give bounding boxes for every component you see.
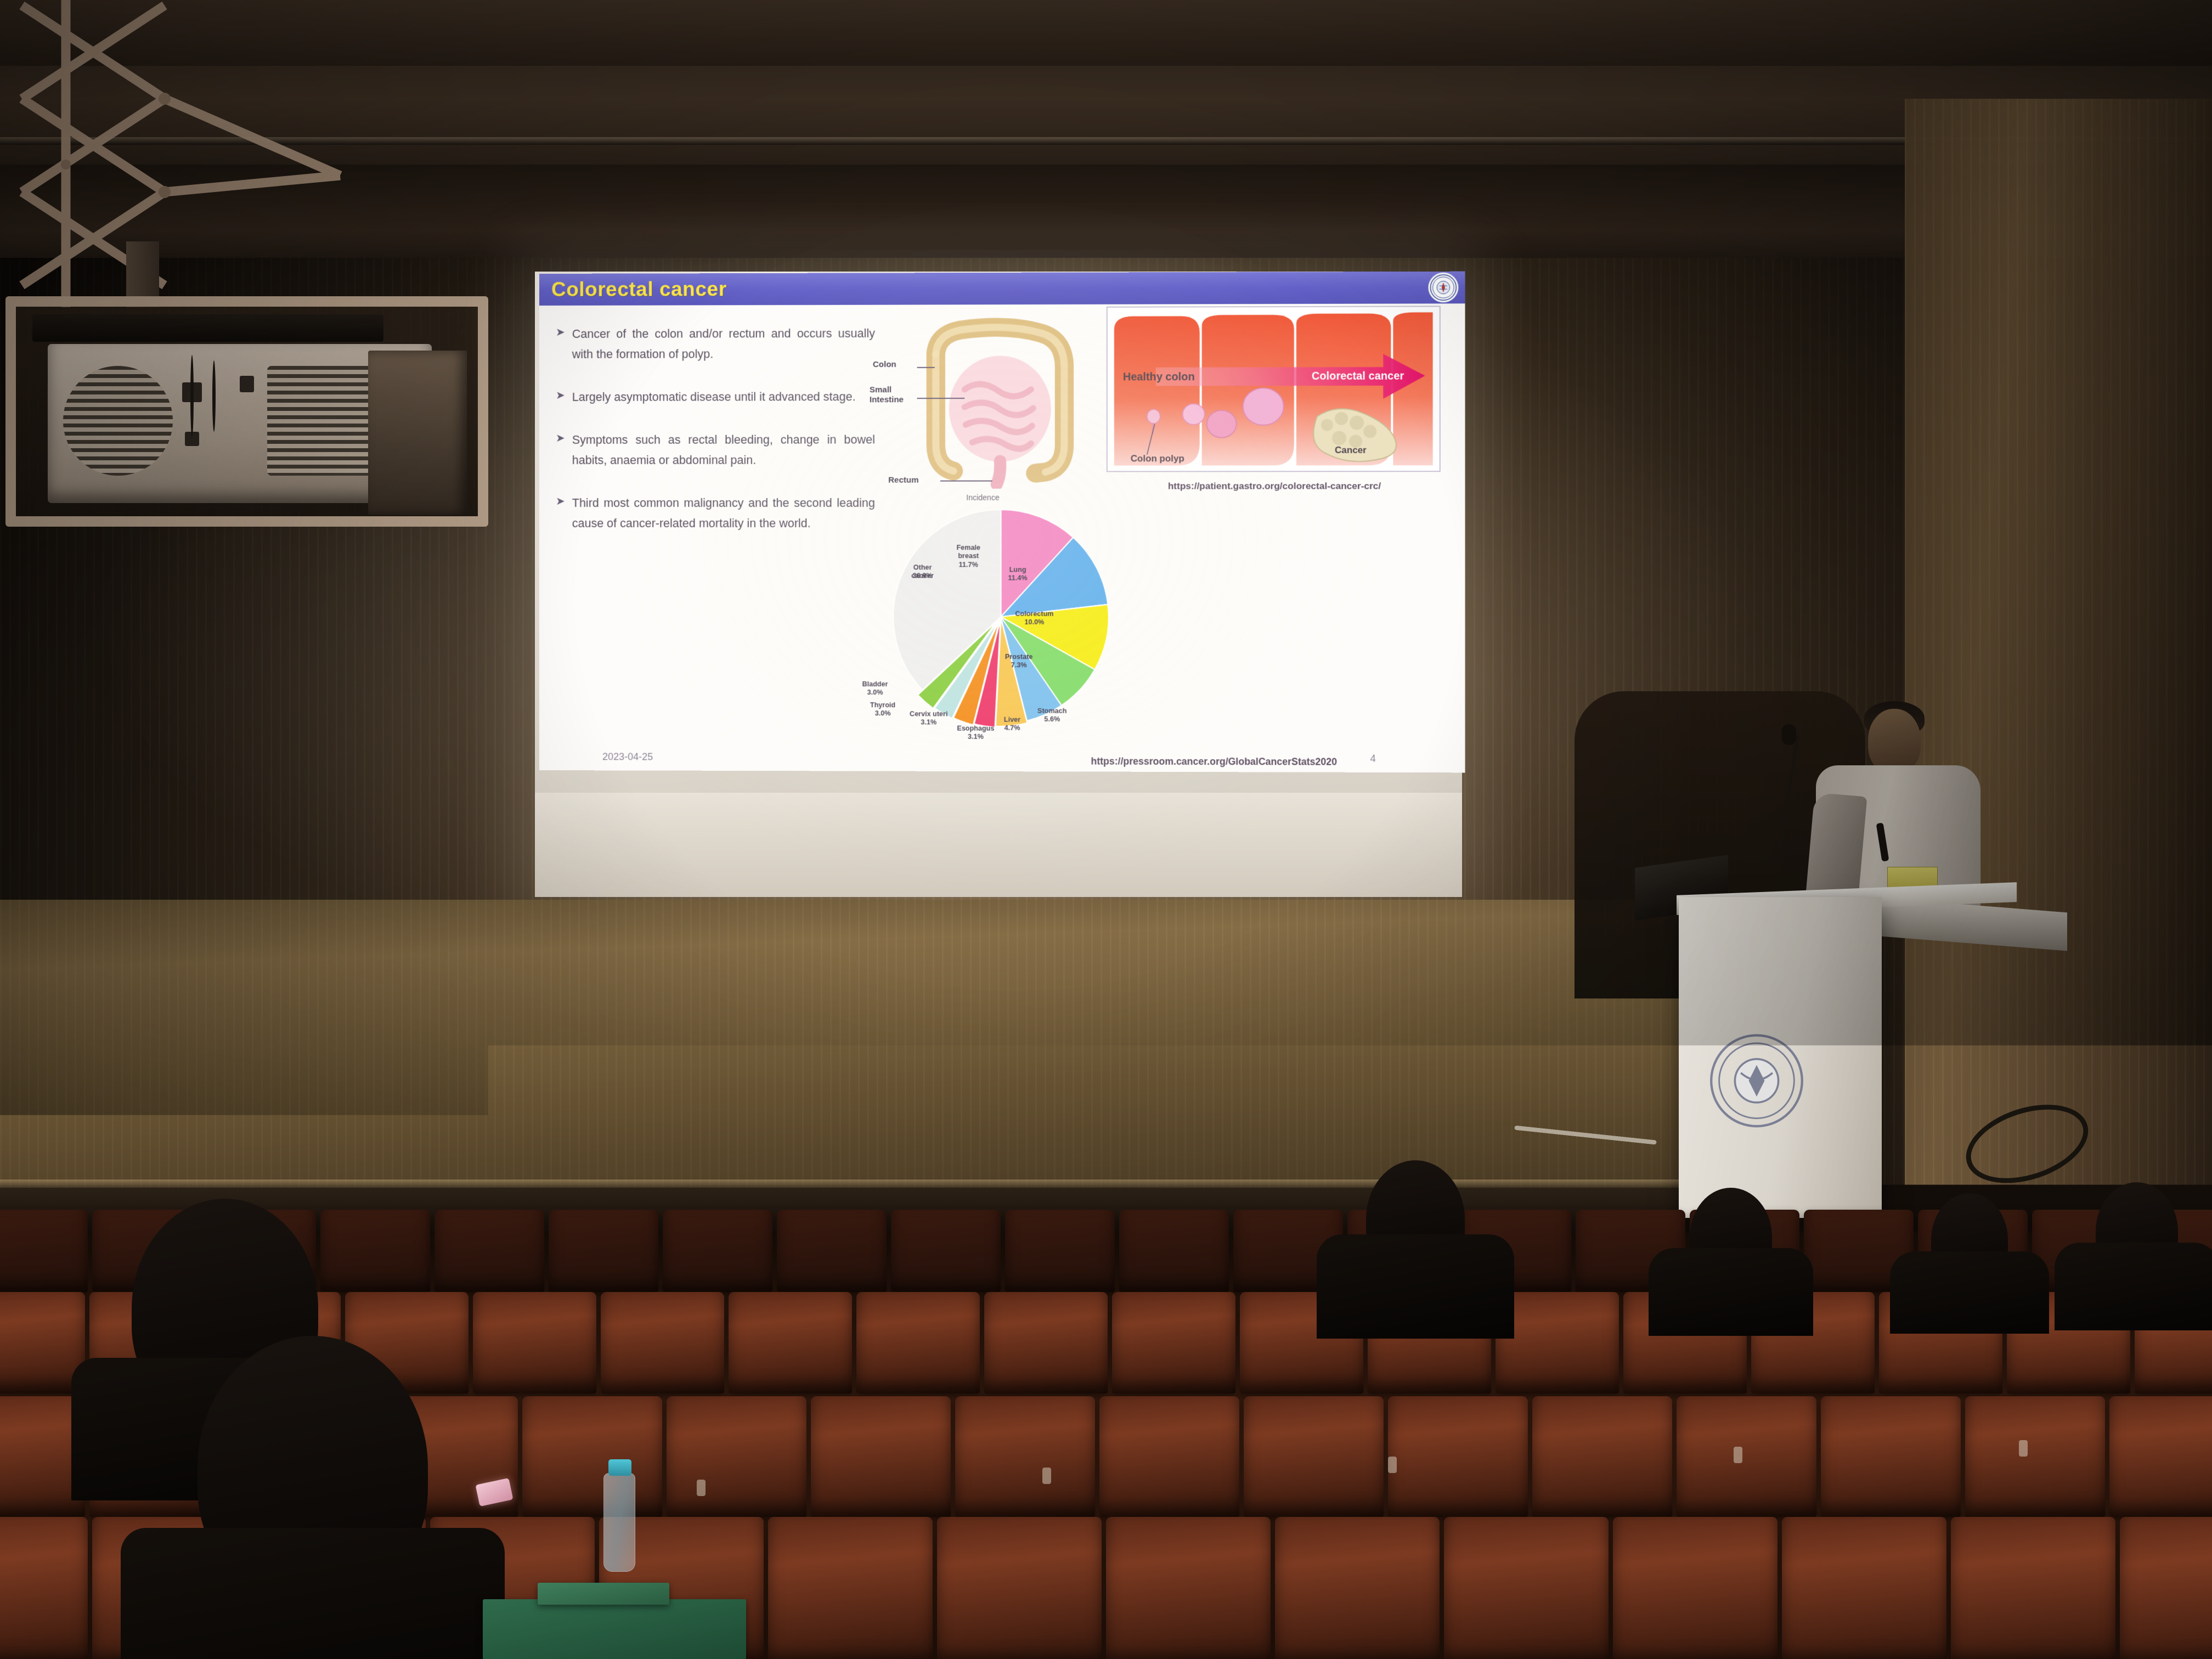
svg-text:Cancer: Cancer	[1335, 445, 1367, 455]
seat[interactable]	[1099, 1396, 1239, 1517]
green-booklet-secondary[interactable]	[538, 1583, 669, 1605]
projector-port-c	[240, 376, 254, 392]
audience-shoulders	[1317, 1234, 1514, 1339]
pie-label-text: Prostate	[1005, 653, 1033, 661]
bullet-arrow-icon: ➤	[556, 493, 565, 534]
pie-label-text: Stomach	[1037, 707, 1066, 715]
microphone-head-icon	[1782, 724, 1796, 745]
pie-label-text: Thyroid	[870, 701, 895, 709]
audience-member-right-b	[1931, 1193, 2008, 1286]
source-link-globocan[interactable]: https://pressroom.cancer.org/GlobalCance…	[1091, 755, 1337, 768]
seat[interactable]	[891, 1210, 1001, 1292]
seat[interactable]	[1444, 1517, 1609, 1659]
seat[interactable]	[1275, 1517, 1440, 1659]
seat[interactable]	[955, 1396, 1095, 1517]
pie-svg-wrapper	[889, 505, 1113, 729]
seat[interactable]	[1965, 1396, 2105, 1517]
pie-label-text: Bladder	[862, 680, 888, 688]
coiled-floor-cable	[1956, 1091, 2098, 1198]
presentation-slide: Colorectal cancer ➤ Cancer of the colon …	[539, 272, 1465, 773]
seat[interactable]	[320, 1210, 430, 1292]
audience-member-right-c	[2096, 1182, 2178, 1281]
projection-screen-frame: Colorectal cancer ➤ Cancer of the colon …	[535, 272, 1462, 897]
pie-label-female-breast: Female breast 11.7%	[945, 544, 992, 569]
projector-security-cage	[5, 296, 488, 527]
seat[interactable]	[1677, 1396, 1816, 1517]
armrest	[697, 1480, 706, 1496]
svg-text:Colon polyp: Colon polyp	[1131, 453, 1184, 464]
anatomy-label-small-intestine: Small Intestine	[870, 385, 914, 405]
seat[interactable]	[1821, 1396, 1961, 1517]
seat[interactable]	[667, 1396, 806, 1517]
audience-member-right-a	[1690, 1188, 1772, 1286]
university-seal-icon	[1707, 1031, 1806, 1130]
pie-value-text: 7.3%	[1011, 661, 1027, 669]
pie-label-lung: Lung 11.4%	[998, 566, 1037, 583]
pie-label-colorectum: Colorectum 10.0%	[1005, 610, 1064, 627]
pie-value-text: 11.4%	[1008, 574, 1028, 582]
water-bottle[interactable]	[603, 1473, 635, 1572]
projection-screen-surface: Colorectal cancer ➤ Cancer of the colon …	[535, 272, 1462, 897]
pie-value-text: 3.0%	[875, 709, 891, 717]
university-logo-icon	[1428, 273, 1458, 303]
seat[interactable]	[2120, 1517, 2212, 1659]
pie-label-text: Lung	[1009, 566, 1026, 573]
seat[interactable]	[1244, 1396, 1384, 1517]
pie-value-text: 3.1%	[968, 733, 984, 741]
pie-label-text: Esophagus	[957, 725, 994, 732]
seat[interactable]	[522, 1396, 662, 1517]
slide-date: 2023-04-25	[602, 751, 653, 763]
audience-seating	[0, 1232, 2212, 1659]
audience-member-foreground	[198, 1336, 428, 1599]
seat[interactable]	[0, 1517, 88, 1659]
audience-shoulders	[121, 1528, 505, 1659]
pie-value-text: 3.1%	[921, 719, 936, 726]
audience-shoulders	[2055, 1243, 2212, 1330]
podium-and-speaker-area	[1580, 647, 2211, 1240]
bullet-item: ➤ Symptoms such as rectal bleeding, chan…	[556, 430, 875, 471]
svg-text:Colorectal cancer: Colorectal cancer	[1312, 370, 1404, 382]
seat[interactable]	[1532, 1396, 1672, 1517]
bullet-item: ➤ Third most common malignancy and the s…	[556, 493, 875, 534]
slide-page-number: 4	[1370, 753, 1376, 765]
seat[interactable]	[856, 1292, 980, 1393]
armrest	[2019, 1440, 2028, 1457]
seat[interactable]	[729, 1292, 852, 1393]
pie-slices	[889, 505, 1113, 729]
pie-label-thyroid: Thyroid 3.0%	[863, 701, 902, 718]
seat[interactable]	[1613, 1517, 1778, 1659]
seat[interactable]	[435, 1210, 544, 1292]
projector-cable-2	[212, 360, 216, 432]
scissor-lift-mount-icon	[0, 0, 417, 340]
audience-shoulders	[1649, 1248, 1813, 1336]
audience-shoulders	[1890, 1251, 2049, 1334]
seat-row-far	[0, 1210, 2212, 1292]
seat[interactable]	[1005, 1210, 1115, 1292]
seat[interactable]	[2109, 1396, 2212, 1517]
audience-member-center	[1366, 1160, 1465, 1278]
projector-mount-bar	[32, 314, 383, 342]
source-link-gastro[interactable]: https://patient.gastro.org/colorectal-ca…	[1108, 481, 1442, 492]
armrest	[1388, 1457, 1397, 1473]
pie-label-liver: Liver 4.7%	[996, 716, 1029, 733]
colon-polyp-to-cancer-illustration-icon: Healthy colon Colorectal cancer Colon po…	[1108, 307, 1440, 471]
bullet-item: ➤ Cancer of the colon and/or rectum and …	[556, 324, 875, 365]
pie-label-esophagus: Esophagus 3.1%	[952, 725, 999, 742]
bullet-arrow-icon: ➤	[556, 387, 565, 408]
bullet-text: Cancer of the colon and/or rectum and oc…	[572, 324, 875, 365]
seat[interactable]	[1112, 1292, 1235, 1393]
bottle-cap	[608, 1459, 631, 1476]
ceiling-projector-assembly	[0, 0, 527, 549]
cancer-incidence-pie-chart: Incidence Female breast 11.7% Lung 11.4%…	[870, 493, 1224, 753]
pie-label-text: Female breast	[957, 544, 980, 560]
seat[interactable]	[768, 1517, 933, 1659]
bullet-arrow-icon: ➤	[556, 430, 565, 471]
anatomy-label-rectum: Rectum	[888, 476, 918, 485]
bottle-cap	[75, 1140, 91, 1152]
pie-value-text: 4.7%	[1005, 724, 1020, 732]
seat[interactable]	[663, 1210, 772, 1292]
pie-value-text: 5.6%	[1044, 715, 1060, 723]
pie-label-prostate: Prostate 7.3%	[997, 653, 1041, 670]
anatomy-label-colon: Colon	[873, 360, 896, 369]
pie-label-text: Cervix uteri	[910, 710, 947, 718]
pie-label-cervix-uteri: Cervix uteri 3.1%	[904, 710, 953, 727]
seat[interactable]	[777, 1210, 887, 1292]
pie-label-stomach: Stomach 5.6%	[1031, 707, 1073, 724]
pie-label-other-cancer-word: cancer	[902, 572, 943, 580]
armrest	[1734, 1447, 1742, 1463]
pie-value-text: 11.7%	[959, 561, 978, 568]
slide-title: Colorectal cancer	[551, 278, 727, 301]
seat[interactable]	[1388, 1396, 1528, 1517]
projector-vent-left-icon	[63, 366, 173, 476]
slide-bullet-list: ➤ Cancer of the colon and/or rectum and …	[556, 324, 875, 556]
green-booklet[interactable]	[483, 1599, 746, 1659]
speaker-head	[1868, 709, 1921, 774]
armrest	[1042, 1468, 1051, 1484]
seat[interactable]	[1106, 1517, 1271, 1659]
seat[interactable]	[0, 1210, 88, 1292]
seat[interactable]	[811, 1396, 951, 1517]
seat[interactable]	[1782, 1517, 1946, 1659]
bullet-item: ➤ Largely asymptomatic disease until it …	[556, 387, 875, 408]
bullet-text: Third most common malignancy and the sec…	[572, 493, 875, 534]
colon-anatomy-figure: Colon Small Intestine Rectum	[870, 307, 1102, 489]
water-bottle-far[interactable]	[71, 1149, 93, 1221]
polyp-progression-figure: Healthy colon Colorectal cancer Colon po…	[1107, 306, 1441, 472]
pie-value-text: 3.0%	[867, 689, 883, 696]
svg-text:Healthy colon: Healthy colon	[1123, 371, 1195, 383]
projector-side-module	[368, 351, 467, 515]
seat[interactable]	[549, 1210, 658, 1292]
seat[interactable]	[937, 1517, 1102, 1659]
pie-label-bladder: Bladder 3.0%	[855, 680, 895, 697]
bullet-text: Largely asymptomatic disease until it ad…	[572, 387, 856, 408]
projector-cable	[190, 355, 194, 437]
screen-blank-lower-area	[535, 793, 1462, 897]
seat[interactable]	[601, 1292, 724, 1393]
seat[interactable]	[473, 1292, 596, 1393]
pie-label-text: Colorectum	[1015, 610, 1053, 618]
seat[interactable]	[1119, 1210, 1229, 1292]
pie-label-text: Liver	[1004, 716, 1020, 724]
seat[interactable]	[984, 1292, 1108, 1393]
bullet-arrow-icon: ➤	[556, 324, 565, 365]
pie-value-text: 10.0%	[1024, 618, 1044, 626]
bullet-text: Symptoms such as rectal bleeding, change…	[572, 430, 875, 470]
seat[interactable]	[1951, 1517, 2115, 1659]
chart-title: Incidence	[966, 493, 999, 502]
